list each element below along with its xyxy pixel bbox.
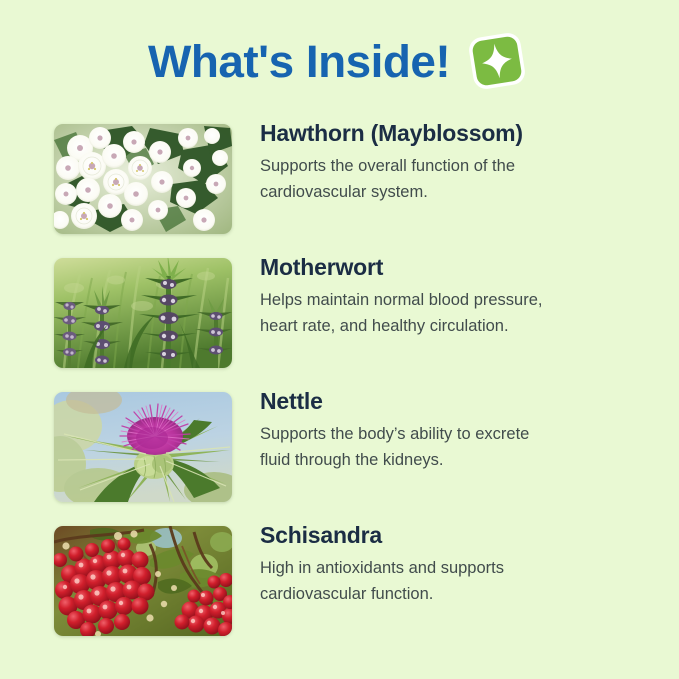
ingredient-title: Motherwort [260,254,649,281]
whats-inside-panel: What's Inside! [0,0,679,679]
ingredient-text: Motherwort Helps maintain normal blood p… [232,252,679,339]
ingredient-text: Nettle Supports the body’s ability to ex… [232,386,679,473]
ingredient-text: Schisandra High in antioxidants and supp… [232,520,679,607]
desc-line: cardiovascular system. [260,180,590,206]
list-item: Schisandra High in antioxidants and supp… [0,520,679,654]
ingredient-title: Hawthorn (Mayblossom) [260,120,649,147]
nettle-purple-thistle-flower-photo [54,392,232,502]
desc-line: Supports the body’s ability to excrete [260,422,590,448]
desc-line: Supports the overall function of the [260,154,590,180]
page-title: What's Inside! [148,39,450,84]
list-item: Hawthorn (Mayblossom) Supports the overa… [0,118,679,252]
schisandra-red-berry-cluster-photo [54,526,232,636]
ingredient-description: Supports the body’s ability to excrete f… [260,422,590,473]
ingredient-list: Hawthorn (Mayblossom) Supports the overa… [0,118,679,654]
ingredient-description: Helps maintain normal blood pressure, he… [260,288,590,339]
ingredient-thumbnail-motherwort [54,258,232,368]
desc-line: cardiovascular function. [260,582,590,608]
ingredient-description: High in antioxidants and supports cardio… [260,556,590,607]
ingredient-text: Hawthorn (Mayblossom) Supports the overa… [232,118,679,205]
ingredient-thumbnail-nettle [54,392,232,502]
hawthorn-white-blossom-photo [54,124,232,234]
ingredient-title: Nettle [260,388,649,415]
list-item: Nettle Supports the body’s ability to ex… [0,386,679,520]
list-item: Motherwort Helps maintain normal blood p… [0,252,679,386]
header: What's Inside! [0,22,679,100]
desc-line: Helps maintain normal blood pressure, [260,288,590,314]
motherwort-green-flower-spike-photo [54,258,232,368]
ingredient-thumbnail-schisandra [54,526,232,636]
desc-line: heart rate, and healthy circulation. [260,314,590,340]
ingredient-thumbnail-hawthorn [54,124,232,234]
ingredient-title: Schisandra [260,522,649,549]
desc-line: High in antioxidants and supports [260,556,590,582]
desc-line: fluid through the kidneys. [260,448,590,474]
ingredient-description: Supports the overall function of the car… [260,154,590,205]
sparkle-star-badge-icon [466,30,528,92]
